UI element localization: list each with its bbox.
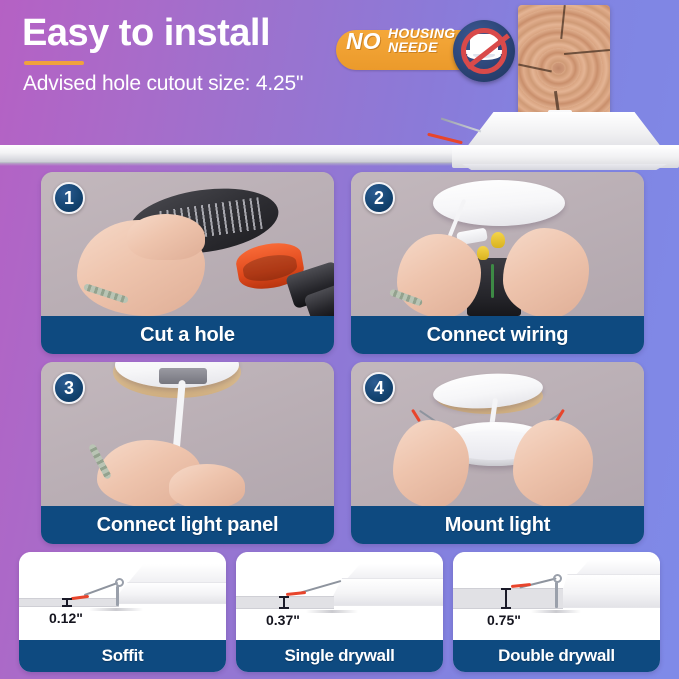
right-hand — [513, 420, 593, 507]
step-card-1[interactable]: 1 Cut a hole — [41, 172, 334, 354]
wood-crack — [560, 5, 566, 39]
step-1-photo — [41, 172, 334, 317]
step-2-label: Connect wiring — [351, 316, 644, 354]
wood-joist-block — [518, 5, 610, 120]
step-1-label: Cut a hole — [41, 316, 334, 354]
drywall-layer-double — [453, 588, 563, 609]
mounting-clip-tip — [427, 133, 463, 145]
mounting-panel-soffit[interactable]: 0.12" Soffit — [19, 552, 226, 672]
drop-shadow — [531, 610, 581, 613]
right-hand — [503, 228, 589, 317]
double-drywall-label: Double drywall — [453, 640, 660, 672]
title-underline-accent — [24, 61, 84, 65]
mounting-clip-arm — [84, 582, 119, 596]
single-drywall-diagram: 0.37" — [236, 552, 443, 640]
mounting-panel-single-drywall[interactable]: 0.37" Single drywall — [236, 552, 443, 672]
step-number-badge: 4 — [363, 372, 395, 404]
step-number-badge: 1 — [53, 182, 85, 214]
badge-no-text: NO — [346, 28, 381, 55]
soffit-label: Soffit — [19, 640, 226, 672]
fixture-trim-skirt — [462, 164, 667, 170]
badge-line-1: HOUSING — [388, 26, 455, 40]
no-housing-can-icon — [453, 20, 515, 82]
step-2-photo — [351, 172, 644, 317]
dimension-indicator — [283, 596, 285, 609]
step-number-badge: 2 — [363, 182, 395, 214]
fingers — [169, 464, 245, 507]
badge-line-2: NEEDE — [388, 40, 455, 54]
mounting-clip-arm — [441, 118, 482, 133]
badge-housing-needed-text: HOUSING NEEDE — [388, 26, 455, 54]
step-4-photo — [351, 362, 644, 507]
soffit-dimension-label: 0.12" — [49, 610, 83, 626]
mounting-panel-double-drywall[interactable]: 0.75" Double drywall — [453, 552, 660, 672]
fingers — [127, 214, 205, 260]
drop-shadow — [306, 610, 358, 613]
left-hand — [393, 420, 469, 507]
fixture-body-top — [575, 560, 660, 576]
step-card-3[interactable]: 3 Connect light panel — [41, 362, 334, 544]
step-3-photo — [41, 362, 334, 507]
fixture-housing-top — [466, 112, 662, 148]
light-panel-disc — [433, 180, 565, 226]
fixture-body-top — [127, 564, 226, 584]
double-drywall-dimension-label: 0.75" — [487, 612, 521, 628]
page-title: Easy to install — [22, 14, 270, 54]
double-drywall-diagram: 0.75" — [453, 552, 660, 640]
wire-nut — [491, 232, 505, 248]
hero-banner: Easy to install Advised hole cutout size… — [0, 0, 679, 170]
single-drywall-label: Single drywall — [236, 640, 443, 672]
ground-wire — [491, 264, 494, 298]
clip-stem — [555, 582, 558, 608]
wood-crack — [564, 49, 610, 55]
step-card-4[interactable]: 4 Mount light — [351, 362, 644, 544]
fixture-body — [328, 578, 443, 606]
step-3-label: Connect light panel — [41, 506, 334, 544]
fixture-body — [111, 582, 226, 604]
clip-stem — [116, 586, 119, 606]
fixture-body-top — [346, 564, 443, 580]
single-drywall-dimension-label: 0.37" — [266, 612, 300, 628]
no-housing-needed-badge: NO HOUSING NEEDE — [336, 20, 521, 82]
step-number-badge: 3 — [53, 372, 85, 404]
prohibition-strike-icon — [461, 28, 507, 74]
wire-nut — [477, 246, 489, 260]
step-4-label: Mount light — [351, 506, 644, 544]
dimension-indicator — [66, 598, 68, 607]
drop-shadow — [89, 608, 143, 611]
dimension-indicator — [505, 588, 507, 609]
hero-subtitle: Advised hole cutout size: 4.25" — [23, 72, 303, 96]
fixture-body — [557, 574, 660, 608]
wood-crack — [518, 63, 552, 72]
soffit-diagram: 0.12" — [19, 552, 226, 640]
step-card-2[interactable]: 2 Connect wiring — [351, 172, 644, 354]
left-hand — [397, 234, 481, 317]
